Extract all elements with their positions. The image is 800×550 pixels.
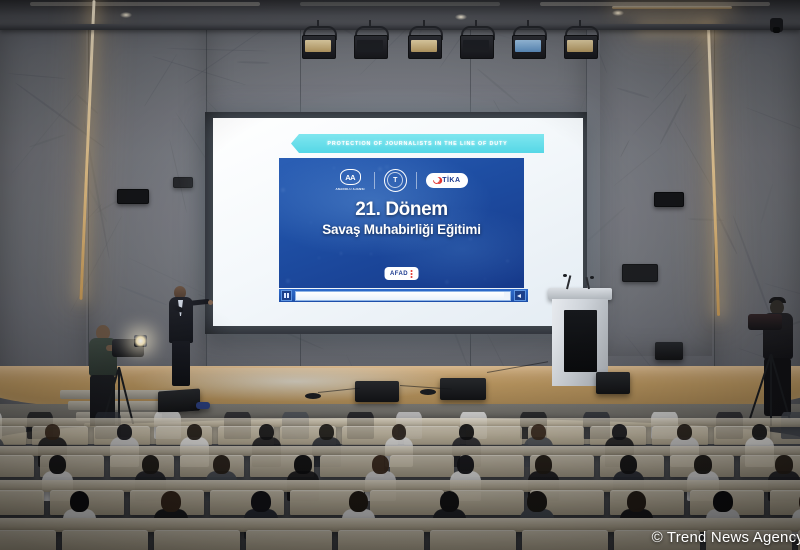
spotlight-5 — [510, 26, 546, 60]
audience-head — [349, 491, 369, 512]
presenter-on-stage — [168, 286, 194, 386]
audience-head — [620, 455, 637, 474]
projection-screen: PROTECTION OF JOURNALISTS IN THE LINE OF… — [205, 112, 587, 334]
seat-back — [0, 490, 44, 514]
lighting-truss — [0, 24, 800, 30]
audience-head — [45, 424, 60, 440]
floor-monitor-right — [596, 372, 630, 394]
audience-head — [117, 424, 132, 440]
presidency-seal-logo: T — [384, 169, 407, 192]
photo-scene: PROTECTION OF JOURNALISTS IN THE LINE OF… — [0, 0, 800, 550]
audience-head — [627, 491, 647, 512]
equipment-case — [655, 342, 683, 360]
mic-base-right — [420, 389, 436, 395]
seat-back — [154, 530, 240, 550]
tika-label: TİKA — [442, 177, 460, 184]
audience-head — [187, 424, 202, 440]
audience-head — [440, 491, 460, 512]
wall-panel-3 — [600, 26, 712, 356]
audience-head — [294, 455, 311, 474]
audience-head — [49, 455, 66, 474]
audience-head — [70, 491, 90, 512]
logo-divider-1 — [374, 172, 375, 189]
wall-speaker-left-2 — [173, 177, 193, 188]
crescent-icon — [433, 177, 440, 184]
media-player-bar[interactable] — [279, 289, 528, 302]
seat-back — [0, 530, 56, 550]
spotlight-3 — [406, 26, 442, 60]
slide-title-line1: 21. Dönem — [279, 200, 524, 219]
tika-logo: TİKA — [426, 173, 468, 188]
audience-head — [142, 455, 159, 474]
wall-speaker-right — [654, 192, 684, 207]
wall-speaker-left — [117, 189, 149, 204]
audience-head — [161, 491, 181, 512]
logo-divider-2 — [416, 172, 417, 189]
presenter-legs — [172, 341, 190, 386]
ceiling-slot-center — [300, 2, 500, 6]
downlight-1 — [455, 14, 467, 20]
seat-back — [0, 455, 34, 477]
slide-title: 21. Dönem Savaş Muhabirliği Eğitimi — [279, 200, 524, 238]
seat-back — [246, 530, 332, 550]
audience-head — [713, 491, 733, 512]
wall-speaker-right-2 — [622, 264, 658, 282]
spotlight-6 — [562, 26, 598, 60]
aa-caption: ANADOLU AJANSI — [335, 187, 364, 191]
podium-mic-head-1 — [563, 274, 567, 277]
ribbon-text: PROTECTION OF JOURNALISTS IN THE LINE OF… — [327, 141, 507, 147]
podium-mic-head-2 — [590, 276, 594, 279]
stage-prop-blue — [196, 402, 210, 409]
watermark: © Trend News Agency — [652, 529, 800, 546]
video-slide: AA ANADOLU AJANSI T TİKA 21. Dönem — [279, 158, 524, 288]
audience-head — [251, 491, 271, 512]
slide-title-line2: Savaş Muhabirliği Eğitimi — [279, 223, 524, 238]
screen-surface: PROTECTION OF JOURNALISTS IN THE LINE OF… — [213, 118, 583, 326]
podium-screen-panel — [564, 310, 597, 372]
audience-head — [527, 491, 547, 512]
audience-head — [459, 424, 474, 440]
slide-logo-row: AA ANADOLU AJANSI T TİKA — [279, 167, 524, 193]
audience-head — [372, 455, 389, 474]
camera-light-icon — [134, 335, 147, 347]
seat-back — [62, 530, 148, 550]
afad-logo: AFAD — [384, 267, 419, 280]
slide-ribbon-banner: PROTECTION OF JOURNALISTS IN THE LINE OF… — [291, 134, 544, 153]
audience-head — [259, 424, 274, 440]
aa-mark: AA — [340, 169, 361, 185]
audience-head — [457, 455, 474, 474]
audience-head — [535, 455, 552, 474]
audience-head — [213, 455, 230, 474]
stage-monitor-center — [355, 381, 399, 402]
ceiling-camera — [770, 18, 783, 32]
camera-operator-right — [752, 292, 798, 432]
ceiling-slot-left — [30, 2, 260, 6]
spotlight-2 — [352, 26, 388, 60]
audience-head — [752, 424, 767, 440]
spotlight-4 — [458, 26, 494, 60]
downlight-2 — [612, 10, 624, 16]
anadolu-ajansi-logo: AA ANADOLU AJANSI — [335, 169, 364, 191]
mic-base-left — [305, 393, 321, 399]
seal-mark: T — [393, 177, 397, 184]
audience-head — [319, 424, 334, 440]
seat-back — [390, 455, 454, 477]
speaker-icon[interactable] — [514, 290, 526, 301]
audience-head — [392, 424, 407, 440]
presenter-hand — [208, 300, 213, 305]
downlight-3 — [120, 12, 132, 18]
afad-label: AFAD — [390, 271, 408, 277]
audience-head — [612, 424, 627, 440]
afad-dots-icon — [411, 270, 413, 278]
seat-back — [338, 530, 424, 550]
audience-head — [694, 455, 711, 474]
audience-head — [677, 424, 692, 440]
stage-monitor-left — [158, 389, 200, 414]
audience-head — [775, 455, 792, 474]
spotlight-1 — [300, 26, 336, 60]
audience-head — [531, 424, 546, 440]
seat-back — [430, 530, 516, 550]
seek-bar[interactable] — [295, 291, 511, 301]
led-strip-ceiling-right — [612, 6, 732, 9]
pause-icon[interactable] — [281, 290, 292, 301]
seat-back — [522, 530, 608, 550]
video-camera-right — [748, 314, 782, 330]
